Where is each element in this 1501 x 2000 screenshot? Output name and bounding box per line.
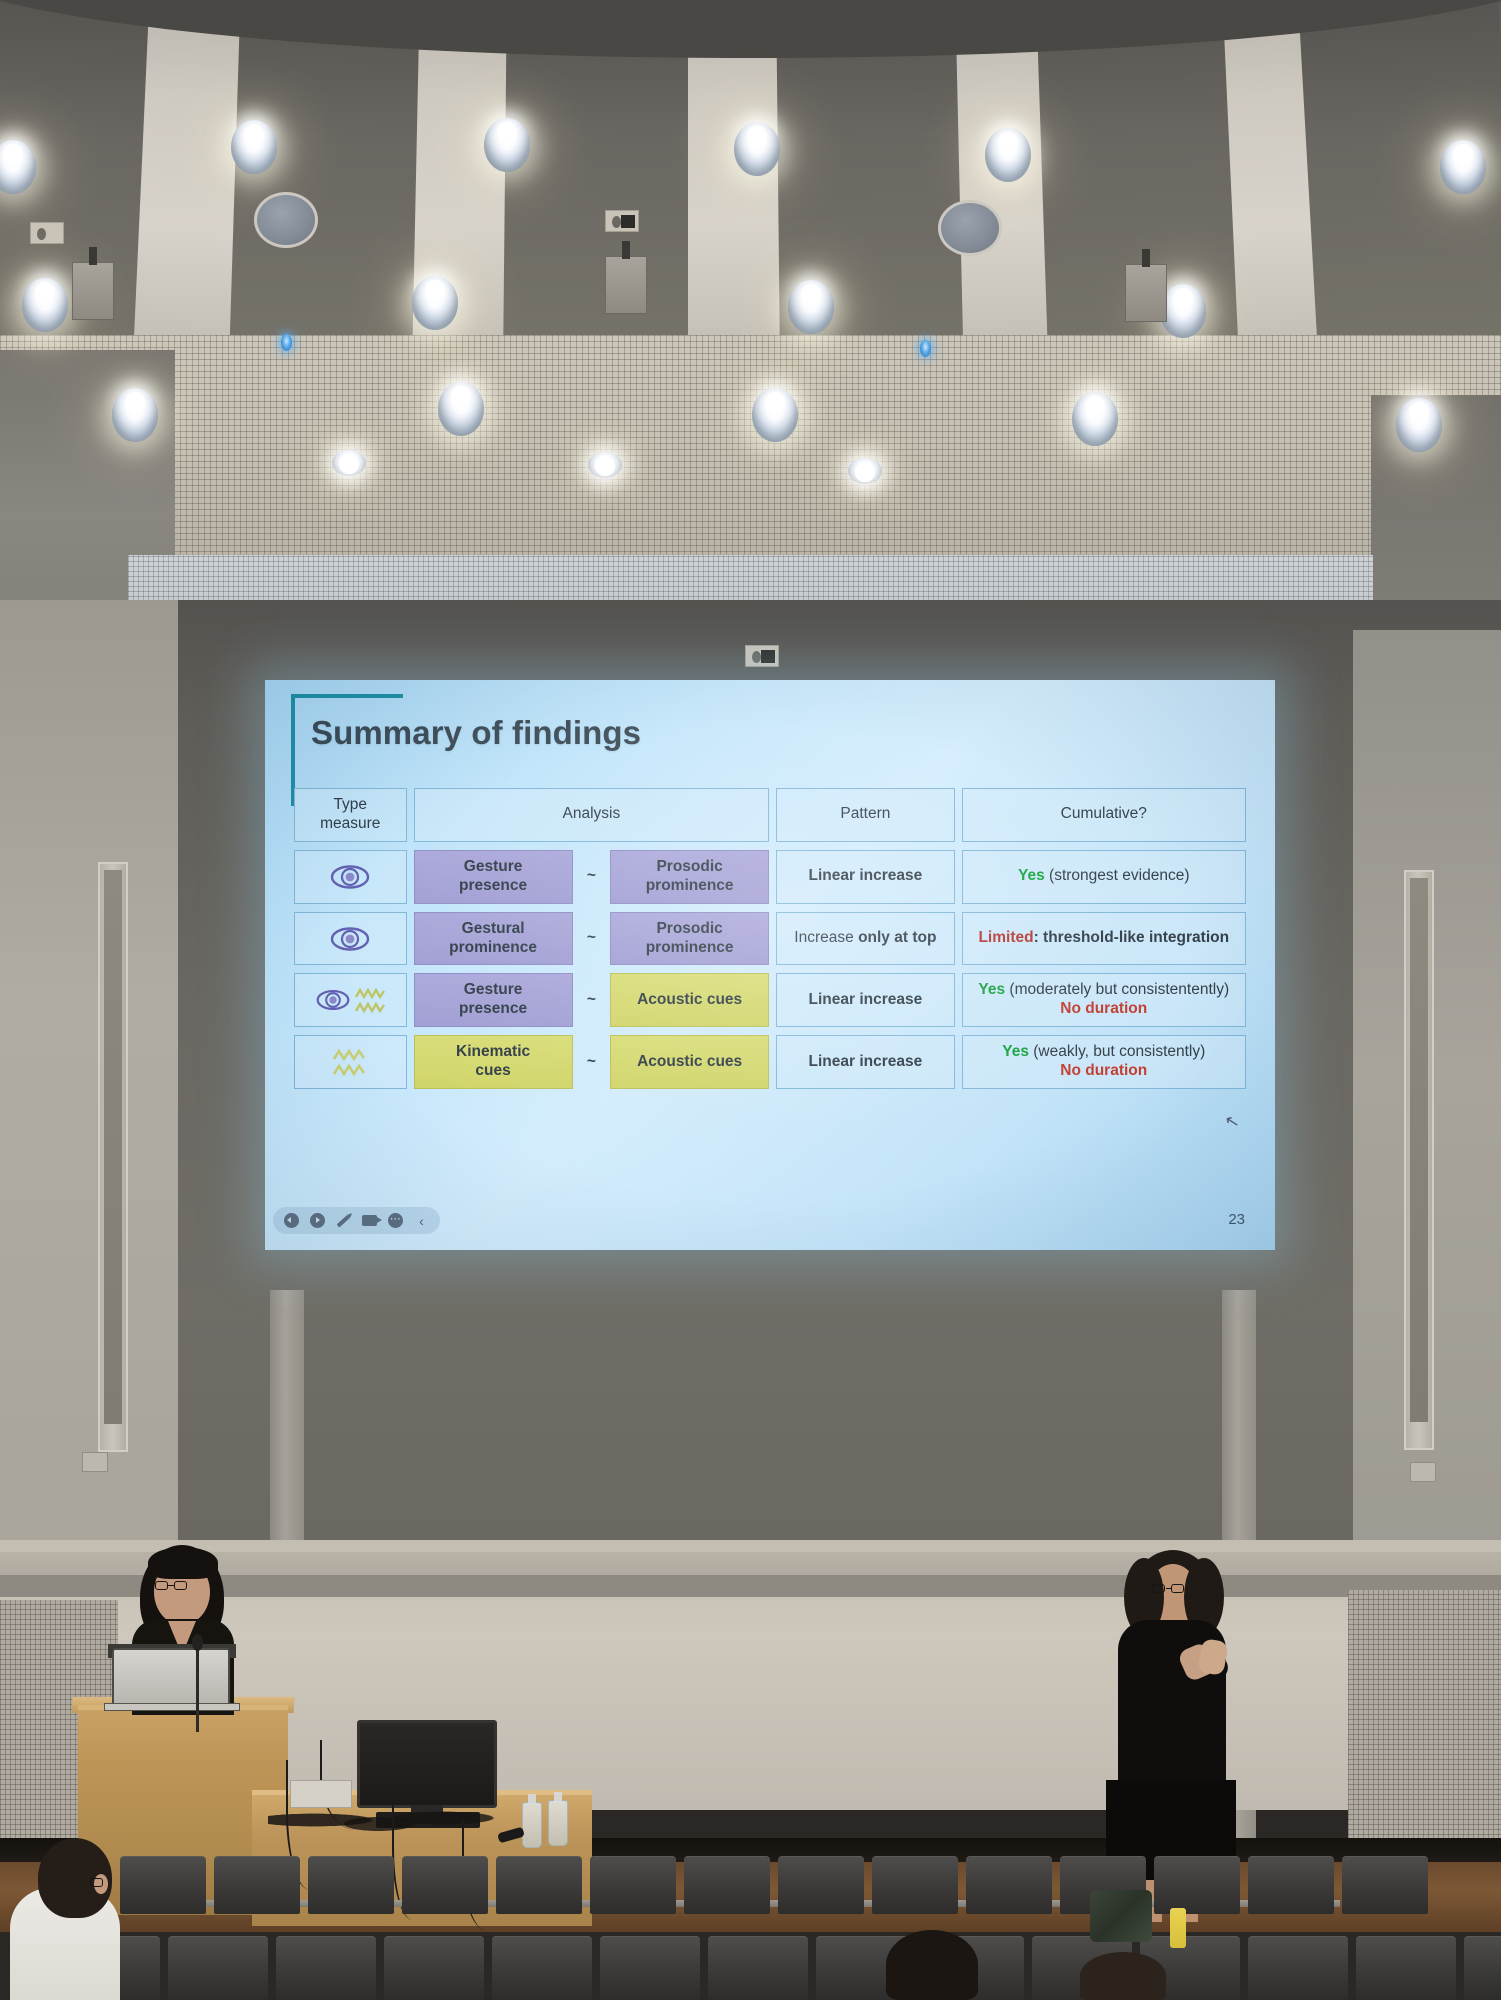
water-bottle xyxy=(522,1802,542,1848)
cumulative-row1-rest: (strongest evidence) xyxy=(1045,867,1190,884)
cumulative-row1-yes: Yes xyxy=(1018,867,1045,884)
audience-head-left xyxy=(38,1838,112,1924)
type-measure-icons-row3 xyxy=(294,973,407,1027)
seat[interactable] xyxy=(1248,1856,1334,1914)
analysis-left-row3: Gesture presence xyxy=(414,973,573,1027)
table-row: Gestural prominence ~ Prosodic prominenc… xyxy=(294,912,1246,966)
relation-tilde-row4: ~ xyxy=(580,1035,603,1089)
findings-table: Type measure Analysis Pattern Cumulative… xyxy=(287,780,1253,1097)
analysis-left-row1-line2: presence xyxy=(420,877,567,896)
power-socket[interactable] xyxy=(82,1452,108,1472)
cumulative-row4-yes: Yes xyxy=(1002,1043,1029,1060)
type-measure-icons-row2 xyxy=(294,912,407,966)
header-analysis: Analysis xyxy=(414,788,770,842)
wall-line-array-speaker xyxy=(1404,870,1434,1450)
seat[interactable] xyxy=(708,1936,808,2000)
pen-tool-button[interactable] xyxy=(335,1212,352,1229)
analysis-left-row1: Gesture presence xyxy=(414,850,573,904)
pattern-row4: Linear increase xyxy=(776,1035,954,1089)
ceiling-downlight xyxy=(412,276,458,330)
ceiling-speaker xyxy=(254,192,318,248)
cumulative-row4-note: No duration xyxy=(968,1062,1240,1081)
analysis-right-row2: Prosodic prominence xyxy=(610,912,769,966)
seat-row-back xyxy=(120,1856,1428,1914)
seat-row-front xyxy=(60,1936,1501,2000)
eye-icon xyxy=(316,989,350,1011)
header-type-measure-line1: Type xyxy=(300,796,401,815)
cumulative-row1: Yes (strongest evidence) xyxy=(962,850,1246,904)
ceiling-upper xyxy=(0,0,1501,345)
power-socket[interactable] xyxy=(1410,1462,1436,1482)
audience-head-right xyxy=(1080,1952,1166,2000)
analysis-right-row1-line1: Prosodic xyxy=(616,858,763,877)
analysis-left-row4-line2: cues xyxy=(420,1062,567,1081)
seat[interactable] xyxy=(492,1936,592,2000)
ceiling-fixture-mount xyxy=(72,262,114,320)
waveform-icon xyxy=(333,1049,367,1076)
seat[interactable] xyxy=(872,1856,958,1914)
ceiling-downlight xyxy=(788,280,834,334)
microphone-icon xyxy=(192,1634,203,1651)
ceiling-downlight xyxy=(332,450,366,476)
analysis-right-row1: Prosodic prominence xyxy=(610,850,769,904)
analysis-left-row2-line1: Gestural xyxy=(420,920,567,939)
table-row: Kinematic cues ~ Acoustic cues Linear in… xyxy=(294,1035,1246,1089)
cumulative-row3-yes: Yes xyxy=(978,981,1005,998)
ceiling-downlight xyxy=(22,278,68,332)
wall-control-plate xyxy=(30,222,64,244)
waveform-icon xyxy=(355,988,385,1013)
relation-tilde-row3: ~ xyxy=(580,973,603,1027)
seat[interactable] xyxy=(308,1856,394,1914)
table-row: Gesture presence ~ Acoustic cues Linear … xyxy=(294,973,1246,1027)
seat[interactable] xyxy=(1342,1856,1428,1914)
analysis-left-row4: Kinematic cues xyxy=(414,1035,573,1089)
header-cumulative: Cumulative? xyxy=(962,788,1246,842)
analysis-left-row1-line1: Gesture xyxy=(420,858,567,877)
acoustic-wall-panel-right xyxy=(1348,1590,1501,1840)
slide-page-number: 23 xyxy=(1228,1211,1245,1228)
ceiling-downlight xyxy=(752,388,798,442)
seat[interactable] xyxy=(966,1856,1052,1914)
seat[interactable] xyxy=(168,1936,268,2000)
cumulative-row2-limited: Limited xyxy=(978,929,1033,946)
analysis-right-row3: Acoustic cues xyxy=(610,973,769,1027)
pattern-row2-bold: only at top xyxy=(858,929,936,946)
cumulative-row2-rest: : threshold-like integration xyxy=(1034,929,1229,946)
analysis-right-row2-line2: prominence xyxy=(616,939,763,958)
analysis-left-row2: Gestural prominence xyxy=(414,912,573,966)
relation-tilde-row2: ~ xyxy=(580,912,603,966)
lecture-hall-scene: Summary of findings Type measure Analysi… xyxy=(0,0,1501,2000)
table-row: Gesture presence ~ Prosodic prominence L… xyxy=(294,850,1246,904)
wall-control-plate xyxy=(605,210,639,232)
laptop-base xyxy=(104,1703,240,1711)
pattern-row2: Increase only at top xyxy=(776,912,954,966)
screen-share-button[interactable] xyxy=(361,1212,378,1229)
seat[interactable] xyxy=(778,1856,864,1914)
pattern-row2-plain: Increase xyxy=(794,929,858,946)
ceiling-downlight xyxy=(985,128,1031,182)
ceiling-downlight xyxy=(438,382,484,436)
status-led-indicator xyxy=(281,334,292,351)
hair xyxy=(886,1930,978,2000)
cumulative-row4: Yes (weakly, but consistently) No durati… xyxy=(962,1035,1246,1089)
pattern-row3: Linear increase xyxy=(776,973,954,1027)
more-options-button[interactable]: ⋯ xyxy=(387,1212,404,1229)
wall-line-array-speaker xyxy=(98,862,128,1452)
eye-icon xyxy=(330,865,370,889)
seat[interactable] xyxy=(384,1936,484,2000)
seat[interactable] xyxy=(1464,1936,1501,2000)
cumulative-row2: Limited: threshold-like integration xyxy=(962,912,1246,966)
eyeglasses-icon xyxy=(90,1878,116,1887)
cumulative-row4-rest: (weakly, but consistently) xyxy=(1029,1043,1205,1060)
seat[interactable] xyxy=(600,1936,700,2000)
analysis-right-row1-line2: prominence xyxy=(616,877,763,896)
eyeglasses-icon xyxy=(154,1581,210,1590)
ceiling-downlight xyxy=(231,120,277,174)
eyeglasses-icon xyxy=(1152,1584,1204,1593)
header-type-measure: Type measure xyxy=(294,788,407,842)
mouse-cursor-icon: ↖ xyxy=(1223,1111,1241,1134)
ceiling-downlight xyxy=(734,122,780,176)
analysis-left-row3-line1: Gesture xyxy=(420,981,567,1000)
seat[interactable] xyxy=(684,1856,770,1914)
eye-icon xyxy=(330,927,370,951)
analysis-right-row2-line1: Prosodic xyxy=(616,920,763,939)
type-measure-icons-row4 xyxy=(294,1035,407,1089)
ceiling-downlight xyxy=(112,388,158,442)
hair-fringe xyxy=(148,1547,218,1579)
seat[interactable] xyxy=(496,1856,582,1914)
ceiling-fixture-mount xyxy=(605,256,647,314)
cumulative-row3-rest: (moderately but consistentently) xyxy=(1005,981,1229,998)
pattern-row3-text: Linear increase xyxy=(809,991,923,1008)
relation-tilde-row1: ~ xyxy=(580,850,603,904)
header-pattern: Pattern xyxy=(776,788,954,842)
ceiling-downlight xyxy=(484,118,530,172)
projector-plate xyxy=(745,645,779,667)
projected-slide[interactable]: Summary of findings Type measure Analysi… xyxy=(265,680,1275,1250)
pattern-row4-text: Linear increase xyxy=(809,1053,923,1070)
next-slide-button[interactable] xyxy=(309,1212,326,1229)
analysis-left-row2-line2: prominence xyxy=(420,939,567,958)
perforated-acoustic-ceiling xyxy=(0,335,1501,570)
seat[interactable] xyxy=(1356,1936,1456,2000)
slide-title: Summary of findings xyxy=(311,714,641,752)
ceiling-fixture-mount xyxy=(1125,264,1167,322)
seat[interactable] xyxy=(402,1856,488,1914)
presentation-toolbar[interactable]: ⋯ ‹ xyxy=(273,1207,440,1234)
ceiling-downlight xyxy=(588,452,622,478)
analysis-left-row4-line1: Kinematic xyxy=(420,1043,567,1062)
equipment-box xyxy=(290,1780,352,1808)
cumulative-row3: Yes (moderately but consistentently) No … xyxy=(962,973,1246,1027)
table-header-row: Type measure Analysis Pattern Cumulative… xyxy=(294,788,1246,842)
ceiling-speaker xyxy=(938,200,1002,256)
type-measure-icons-row1 xyxy=(294,850,407,904)
analysis-left-row3-line2: presence xyxy=(420,1000,567,1019)
pattern-row1-text: Linear increase xyxy=(809,867,923,884)
audience-head-center xyxy=(886,1930,978,2000)
backpack xyxy=(1090,1890,1152,1942)
ceiling-downlight xyxy=(1072,392,1118,446)
status-led-indicator xyxy=(920,340,931,357)
seat[interactable] xyxy=(214,1856,300,1914)
microphone-stand xyxy=(196,1640,199,1732)
ceiling-downlight xyxy=(1440,140,1486,194)
cumulative-row3-note: No duration xyxy=(968,1000,1240,1019)
previous-slide-button[interactable] xyxy=(283,1212,300,1229)
seat[interactable] xyxy=(590,1856,676,1914)
ceiling-downlight xyxy=(1396,398,1442,452)
collapse-toolbar-button[interactable]: ‹ xyxy=(413,1212,430,1229)
laptop-lid[interactable] xyxy=(112,1648,230,1706)
seat[interactable] xyxy=(1248,1936,1348,2000)
seat[interactable] xyxy=(120,1856,206,1914)
hair xyxy=(1080,1952,1166,2000)
seat[interactable] xyxy=(1154,1856,1240,1914)
seat[interactable] xyxy=(276,1936,376,2000)
analysis-right-row4: Acoustic cues xyxy=(610,1035,769,1089)
pattern-row1: Linear increase xyxy=(776,850,954,904)
water-bottle xyxy=(548,1800,568,1846)
drink-bottle xyxy=(1170,1908,1186,1948)
ceiling-downlight xyxy=(848,458,882,484)
header-type-measure-line2: measure xyxy=(300,815,401,834)
